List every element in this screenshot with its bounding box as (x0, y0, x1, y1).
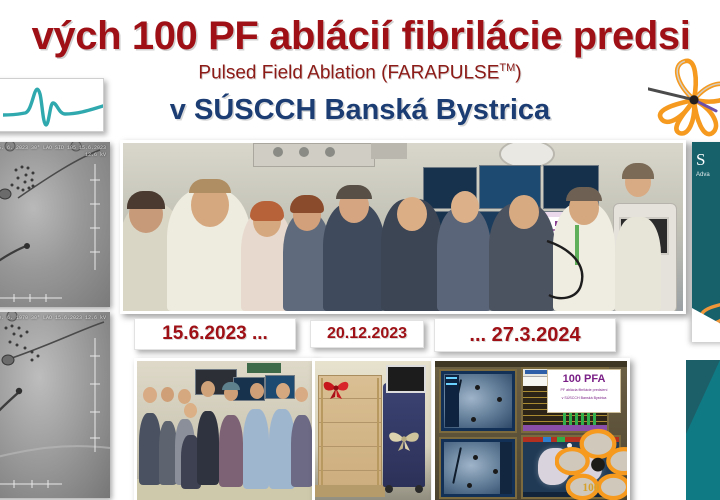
fluoro-image-top: 15. 6. 2023 30° LAO SID 105 15.6.2023 12… (0, 142, 110, 307)
fluoro-image-bottom: 20. 6. 1970 30° LAO 15.6.2023 12.6 kV (0, 312, 110, 498)
slide-canvas: vých 100 PF ablácií fibrilácie predsi Pu… (0, 0, 720, 500)
timeline-date-3: ... 27.3.2024 (434, 318, 616, 352)
trademark-mark: TM (499, 62, 515, 74)
cake-number: 100 (583, 482, 600, 494)
timeline-date-2: 20.12.2023 (310, 320, 424, 348)
slide-subline-2: v SÚSCCH Banská Bystrica (548, 396, 620, 401)
banner-brand-line: S (696, 150, 705, 170)
page-title: vých 100 PF ablácií fibrilácie predsi (0, 14, 720, 59)
boston-scientific-banner: S Adva (692, 142, 720, 342)
subtitle: Pulsed Field Ablation (FARAPULSETM) (60, 62, 660, 84)
slide-subline-1: PF ablácia fibrilácie predsiení (548, 388, 620, 393)
slide-header: vých 100 PF ablácií fibrilácie predsi Pu… (0, 0, 720, 140)
fluoro-timestamp-top: 15. 6. 2023 30° LAO SID 105 15.6.2023 12… (0, 145, 106, 159)
banner-tagline: Adva (696, 172, 710, 178)
hospital-logo: H a.s. (0, 78, 104, 132)
slide-headline: 100 PFA (548, 374, 620, 385)
subtitle-text: Pulsed Field Ablation (FARAPULSE (198, 62, 499, 83)
banner-teal-strip (686, 360, 720, 500)
monitor-fluoro-2 (439, 437, 517, 499)
presentation-slide-100-pfa: 100 PFA PF ablácia fibrilácie predsiení … (547, 369, 621, 413)
farapulse-flower-cake: 100 (555, 423, 630, 500)
ecg-waveform-icon (3, 81, 103, 131)
crate-and-generator-delivery-photo (312, 358, 434, 500)
cathlab-monitor-wall-photo: 100 PFA PF ablácia fibrilácie predsiení … (432, 358, 630, 500)
subtitle-close-paren: ) (515, 62, 521, 83)
gold-bow-icon (385, 427, 423, 451)
team-group-photo-cathlab (120, 140, 686, 314)
farapulse-generator (383, 383, 425, 487)
monitor-fluoro-1 (439, 369, 517, 433)
team-photo-first-procedure (134, 358, 316, 500)
institution-title: v SÚSCCH Banská Bystrica (60, 94, 660, 127)
red-bow-icon (321, 377, 351, 399)
fluoro-timestamp-bottom: 20. 6. 1970 30° LAO 15.6.2023 12.6 kV (0, 315, 106, 322)
timeline-date-1: 15.6.2023 ... (134, 318, 296, 350)
farapulse-catheter-icon (648, 52, 720, 140)
